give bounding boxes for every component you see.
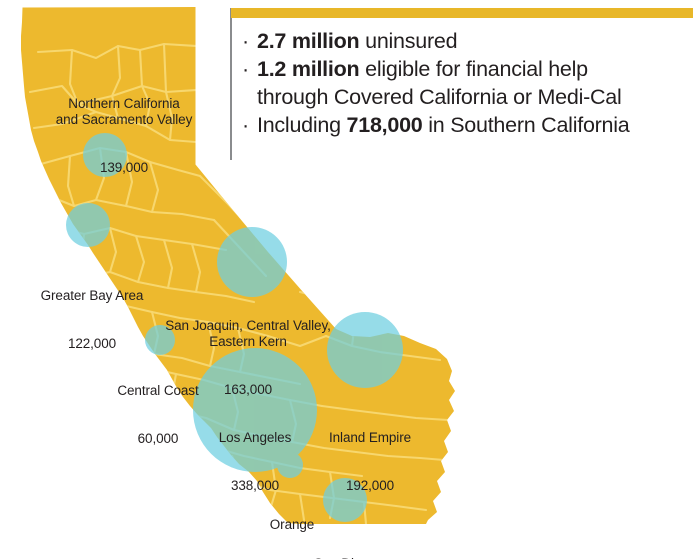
stat-text-line2: through Covered California or Medi-Cal bbox=[257, 85, 622, 109]
statistic-item-uninsured: ·2.7 million uninsured bbox=[240, 28, 692, 55]
infographic-root: Northern Californiaand Sacramento Valley… bbox=[0, 0, 700, 559]
bubble-san-diego bbox=[323, 478, 367, 522]
callout-vertical-rule bbox=[230, 8, 232, 160]
gold-accent-bar bbox=[231, 8, 693, 18]
bubble-northern-california bbox=[83, 133, 127, 177]
stat-text: eligible for financial help bbox=[359, 57, 587, 81]
bullet-icon: · bbox=[242, 56, 249, 83]
stat-text: uninsured bbox=[359, 29, 457, 53]
stat-emphasis: 2.7 million bbox=[257, 29, 359, 53]
bullet-icon: · bbox=[242, 112, 249, 139]
bubble-inland-empire bbox=[327, 312, 403, 388]
bubble-central-coast bbox=[145, 325, 175, 355]
statistics-list: ·2.7 million uninsured ·1.2 million elig… bbox=[240, 28, 692, 140]
stat-emphasis: 718,000 bbox=[347, 113, 423, 137]
stat-emphasis: 1.2 million bbox=[257, 57, 359, 81]
statistic-item-eligible: ·1.2 million eligible for financial help… bbox=[240, 56, 692, 111]
bubble-san-joaquin-central-valley bbox=[217, 227, 287, 297]
bubble-greater-bay-area bbox=[66, 203, 110, 247]
statistic-item-southern-california: ·Including 718,000 in Southern Californi… bbox=[240, 112, 692, 139]
stat-text-suffix: in Southern California bbox=[423, 113, 630, 137]
bubble-orange bbox=[277, 452, 303, 478]
bubble-los-angeles bbox=[193, 348, 317, 472]
stat-text: Including bbox=[257, 113, 347, 137]
bullet-icon: · bbox=[242, 28, 249, 55]
